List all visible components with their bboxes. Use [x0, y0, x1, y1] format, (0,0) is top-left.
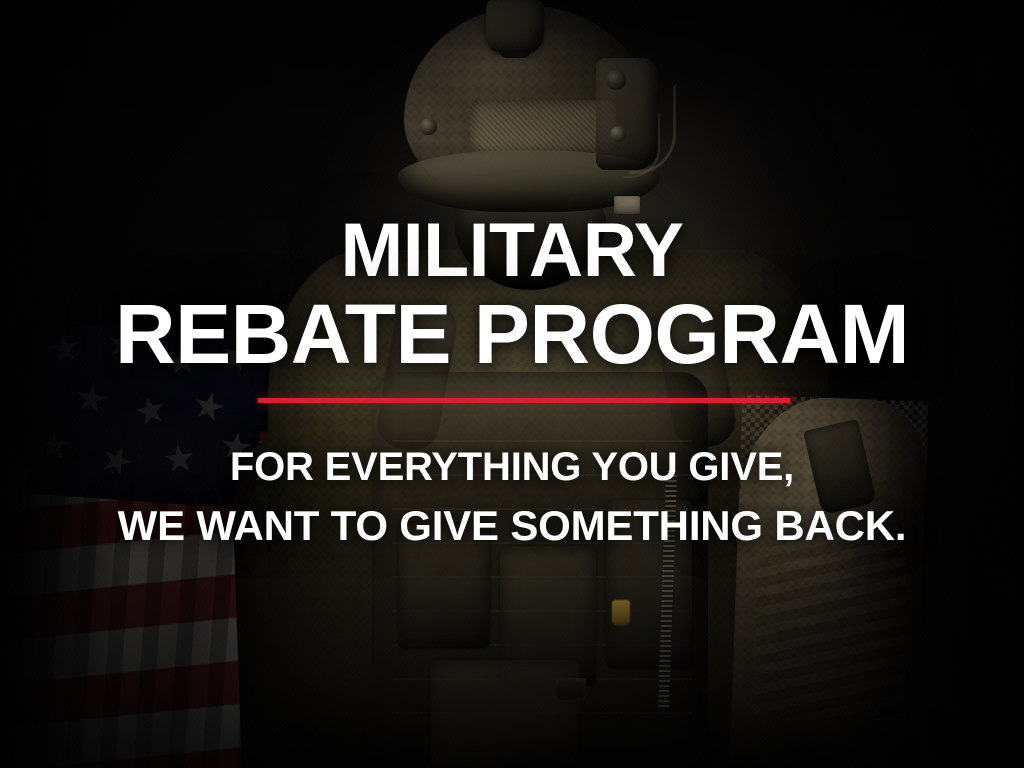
text-overlay: MILITARY REBATE PROGRAM FOR EVERYTHING Y…: [0, 0, 1024, 768]
headline-line-2: REBATE PROGRAM: [0, 296, 1024, 373]
headline-line-1: MILITARY: [5, 216, 1019, 286]
subheadline-line-2: WE WANT TO GIVE SOMETHING BACK.: [0, 505, 1024, 547]
subheadline-line-1: FOR EVERYTHING YOU GIVE,: [0, 447, 1024, 487]
military-rebate-poster: MILITARY REBATE PROGRAM FOR EVERYTHING Y…: [0, 0, 1024, 768]
red-divider-rule: [258, 398, 790, 403]
